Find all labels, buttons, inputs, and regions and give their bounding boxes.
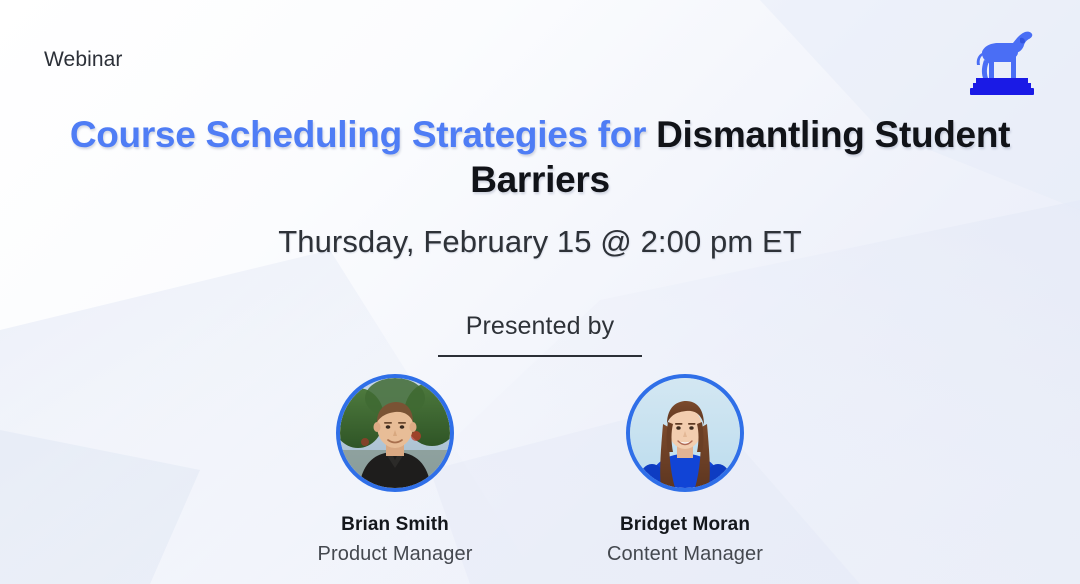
avatar-photo-brian-smith xyxy=(336,374,454,492)
webinar-promo-slide: Webinar Course Scheduling Strategies for… xyxy=(0,0,1080,584)
greyhound-statue-logo-icon xyxy=(960,22,1044,104)
speaker-card-2: Bridget Moran Content Manager xyxy=(587,374,783,566)
presented-by-label: Presented by xyxy=(0,312,1080,341)
speakers-list: Brian Smith Product Manager xyxy=(0,374,1080,566)
avatar-photo-bridget-moran xyxy=(626,374,744,492)
speaker-card-1: Brian Smith Product Manager xyxy=(297,374,493,566)
speaker-role: Product Manager xyxy=(297,543,493,566)
presented-by-section: Presented by xyxy=(0,312,1080,357)
page-title: Course Scheduling Strategies for Dismant… xyxy=(0,112,1080,202)
event-date-time: Thursday, February 15 @ 2:00 pm ET xyxy=(0,224,1080,260)
speaker-name: Brian Smith xyxy=(297,514,493,536)
webinar-eyebrow-label: Webinar xyxy=(44,48,123,72)
speaker-role: Content Manager xyxy=(587,543,783,566)
page-title-accent: Course Scheduling Strategies for xyxy=(70,114,656,155)
presented-by-divider xyxy=(438,355,642,357)
speaker-name: Bridget Moran xyxy=(587,514,783,536)
